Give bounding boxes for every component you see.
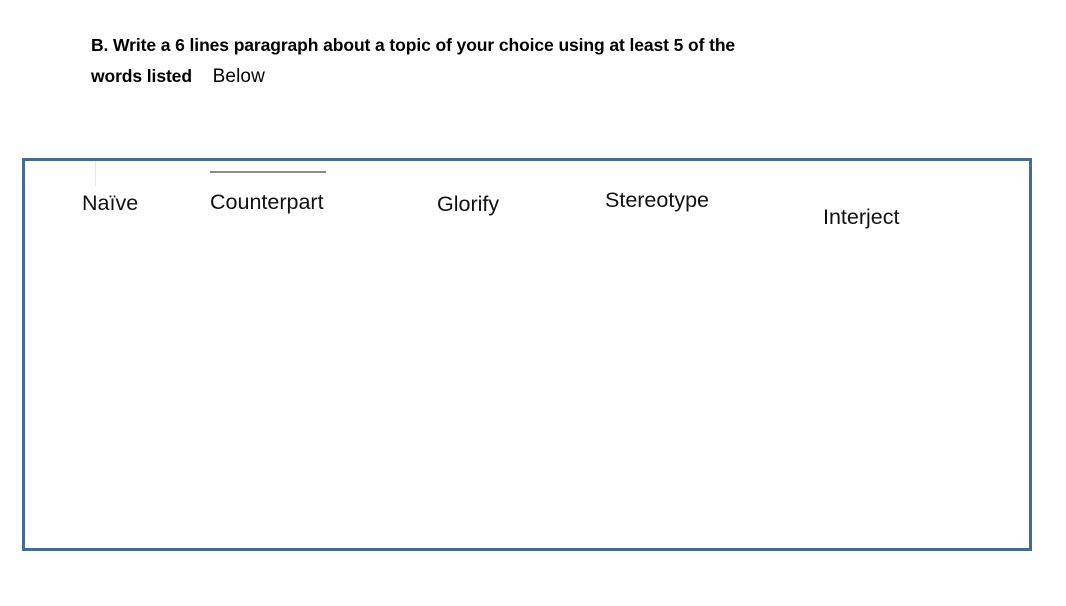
instruction-line-1-text: B. Write a 6 lines paragraph about a top…: [91, 35, 735, 55]
instruction-line-1: B. Write a 6 lines paragraph about a top…: [91, 30, 971, 61]
word-bank-item-naive: Naïve: [82, 193, 138, 215]
word-bank-item-stereotype: Stereotype: [605, 190, 709, 212]
word-bank-item-interject: Interject: [823, 207, 899, 229]
worksheet-page: B. Write a 6 lines paragraph about a top…: [0, 0, 1066, 606]
word-bank-item-counterpart: Counterpart: [210, 192, 324, 214]
instruction-prompt: B. Write a 6 lines paragraph about a top…: [91, 30, 971, 92]
instruction-line-2-bold-text: words listed: [91, 66, 192, 86]
text-cursor-artifact: [95, 161, 96, 186]
word-bank-item-glorify: Glorify: [437, 194, 499, 216]
instruction-line-2: words listed Below: [91, 61, 971, 92]
instruction-line-2-plain-text: Below: [213, 66, 265, 87]
